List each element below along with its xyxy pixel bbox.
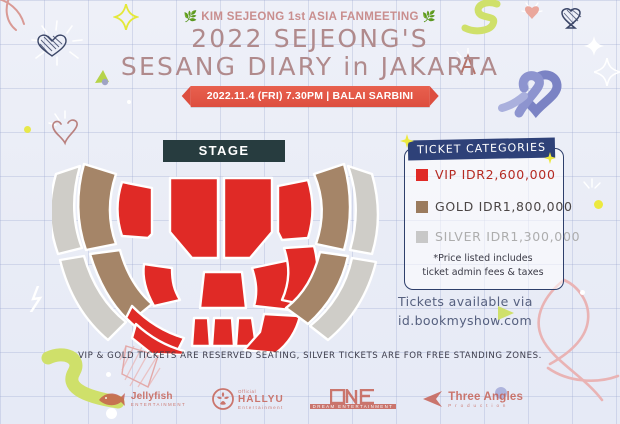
sponsor-three-angles: Three Angles P r o d u c t i o n (422, 390, 523, 408)
seating-chart[interactable] (52, 160, 392, 355)
ticket-categories-title: TICKET CATEGORIES (408, 137, 555, 160)
triangle-icon (422, 390, 444, 408)
poster-canvas: 🌿 KIM SEJEONG 1st ASIA FANMEETING 🌿 2022… (0, 0, 620, 424)
sponsor-hallyu-name: HALLYU (238, 394, 284, 405)
seat-section-vip-center-mid (200, 272, 246, 308)
vip-color-swatch (416, 169, 428, 181)
date-venue-ribbon: 2022.11.4 (FRI) 7.30PM | BALAI SARBINI (191, 86, 430, 107)
price-note-line-1: *Price listed includes (404, 252, 562, 266)
availability-line-1: Tickets available via (398, 292, 578, 311)
seat-section-vip-center-strip-1 (192, 318, 210, 346)
one-dream-icon (330, 389, 376, 404)
stage-label: STAGE (163, 140, 285, 162)
ticket-category-gold: GOLD IDR1,800,000 (416, 199, 573, 214)
title-line-1: 2022 SEJEONG'S (0, 26, 620, 52)
seat-section-vip-center-left (170, 178, 218, 258)
sponsor-jellyfish-sub: ENTERTAINMENT (131, 402, 186, 407)
ticket-category-vip: VIP IDR2,600,000 (416, 167, 556, 182)
ticket-category-silver: SILVER IDR1,300,000 (416, 229, 580, 244)
leaf-icon: 🌿 (422, 11, 436, 23)
silver-price: IDR1,300,000 (486, 229, 580, 244)
price-note: *Price listed includes ticket admin fees… (404, 252, 562, 280)
silver-label: SILVER (435, 229, 482, 244)
white-dot-decoration (127, 100, 131, 104)
seat-section-silver-right-upper (348, 166, 378, 254)
sponsor-hallyu-sub: Entertainment (238, 405, 284, 410)
yellow-dot-decoration (24, 126, 31, 133)
hallyu-circle-icon (212, 388, 234, 410)
page-title: 2022 SEJEONG'S SESANG DIARY in JAKARTA (0, 26, 620, 80)
seat-section-vip-center-right (224, 178, 272, 258)
sponsor-one-dream-sub: DREAM ENTERTAINMENT (310, 404, 397, 409)
seat-section-vip-left-upper (118, 182, 153, 238)
white-sparkle-icon (580, 178, 602, 200)
seat-section-vip-center-strip-2 (212, 318, 234, 346)
seat-section-gold-left-upper (78, 164, 116, 250)
booking-url[interactable]: id.bookmyshow.com (398, 311, 578, 330)
yellow-dot-decoration (594, 200, 603, 209)
ticket-availability: Tickets available via id.bookmyshow.com (398, 292, 578, 331)
seating-disclaimer: VIP & GOLD TICKETS ARE RESERVED SEATING,… (0, 351, 620, 361)
eyebrow-text: KIM SEJEONG 1st ASIA FANMEETING (201, 11, 418, 23)
fish-icon (97, 391, 127, 407)
white-dot-decoration (580, 290, 585, 295)
price-note-line-2: ticket admin fees & taxes (404, 266, 562, 280)
sponsor-jellyfish-name: Jellyfish (131, 391, 186, 402)
gold-label: GOLD (435, 199, 474, 214)
eyebrow-line: 🌿 KIM SEJEONG 1st ASIA FANMEETING 🌿 (0, 10, 620, 23)
sponsor-three-angles-sub: P r o d u c t i o n (448, 403, 523, 408)
sponsor-hallyu: Official HALLYU Entertainment (212, 388, 284, 410)
white-sparkle-icon (24, 286, 48, 312)
sponsor-three-angles-name: Three Angles (448, 391, 523, 403)
silver-color-swatch (416, 231, 428, 243)
vip-price: IDR2,600,000 (462, 167, 556, 182)
seat-section-vip-right-upper (278, 180, 313, 240)
gold-price: IDR1,800,000 (479, 199, 573, 214)
vip-label: VIP (435, 167, 457, 182)
white-dot-decoration (106, 372, 111, 377)
seat-section-gold-right-upper (314, 164, 350, 250)
sponsor-jellyfish: Jellyfish ENTERTAINMENT (97, 391, 186, 407)
sponsor-logos: Jellyfish ENTERTAINMENT Official HALLYU … (0, 381, 620, 417)
gold-color-swatch (416, 201, 428, 213)
leaf-icon: 🌿 (184, 11, 198, 23)
outline-heart-icon (48, 110, 88, 148)
sponsor-one-dream: DREAM ENTERTAINMENT (310, 389, 397, 409)
title-line-2: SESANG DIARY in JAKARTA (0, 54, 620, 80)
